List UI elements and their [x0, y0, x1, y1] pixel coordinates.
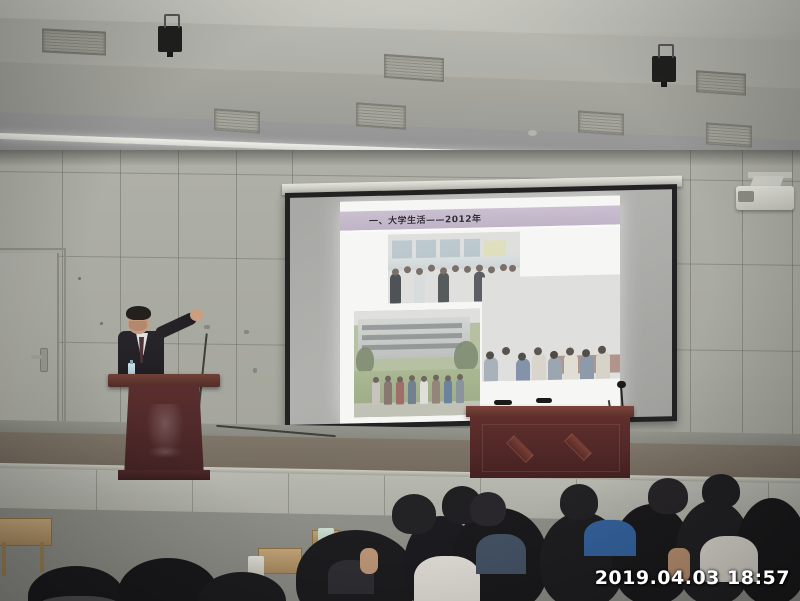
air-vent: [696, 70, 746, 95]
projector-screen-frame: 一、大学生活——2012年: [285, 184, 677, 430]
conference-table-panel: [482, 424, 620, 472]
presenter-face-shadow: [129, 321, 147, 331]
audience-hand: [360, 548, 378, 574]
air-vent: [356, 102, 406, 129]
air-vent: [706, 122, 752, 147]
audience-member: [648, 478, 688, 514]
microphone: [494, 400, 512, 405]
stool-leg: [40, 542, 44, 572]
stage-spotlight: [158, 26, 182, 52]
door-handle[interactable]: [40, 348, 48, 372]
wall-mark: [244, 330, 249, 334]
slide-photo-group-campus: [354, 309, 480, 418]
wall-top-shadow: [0, 150, 800, 166]
ceiling-projector: [736, 186, 794, 210]
audience-member: [392, 494, 436, 534]
podium-carving: [143, 404, 187, 460]
wall-mark: [100, 322, 103, 325]
audience-coat: [414, 556, 480, 601]
stage-spotlight: [652, 56, 676, 82]
podium-base: [118, 470, 210, 480]
audience-coat: [584, 520, 636, 556]
audience-coat: [476, 534, 526, 574]
microphone: [536, 398, 552, 403]
slide-title-bar: 一、大学生活——2012年: [340, 205, 620, 230]
air-vent: [42, 28, 106, 55]
wooden-stool: [258, 548, 302, 574]
stool-leg: [2, 542, 6, 576]
lecture-hall-photo: 一、大学生活——2012年: [0, 0, 800, 601]
wooden-stool: [0, 518, 52, 546]
projector-screen-surface: 一、大学生活——2012年: [290, 189, 672, 425]
wall-mark: [78, 277, 81, 280]
smoke-detector: [528, 130, 537, 136]
air-vent: [214, 108, 260, 133]
presentation-slide: 一、大学生活——2012年: [340, 195, 620, 423]
podium-surface: [108, 374, 220, 387]
air-vent: [578, 110, 624, 135]
audience-member: [470, 492, 506, 526]
slide-photo-collage: [340, 227, 620, 423]
audience-member: [560, 484, 598, 520]
wall-mark: [253, 368, 257, 373]
presenter-hair: [126, 306, 151, 320]
microphone: [617, 381, 626, 388]
slide-photo-event: [482, 274, 620, 381]
presenter-hand: [190, 309, 203, 321]
slide-title: 一、大学生活——2012年: [369, 212, 482, 228]
camera-timestamp: 2019.04.03 18:57: [595, 567, 790, 589]
air-vent: [384, 54, 444, 82]
presenter-at-podium: [112, 305, 212, 381]
audience-member: [702, 474, 740, 508]
